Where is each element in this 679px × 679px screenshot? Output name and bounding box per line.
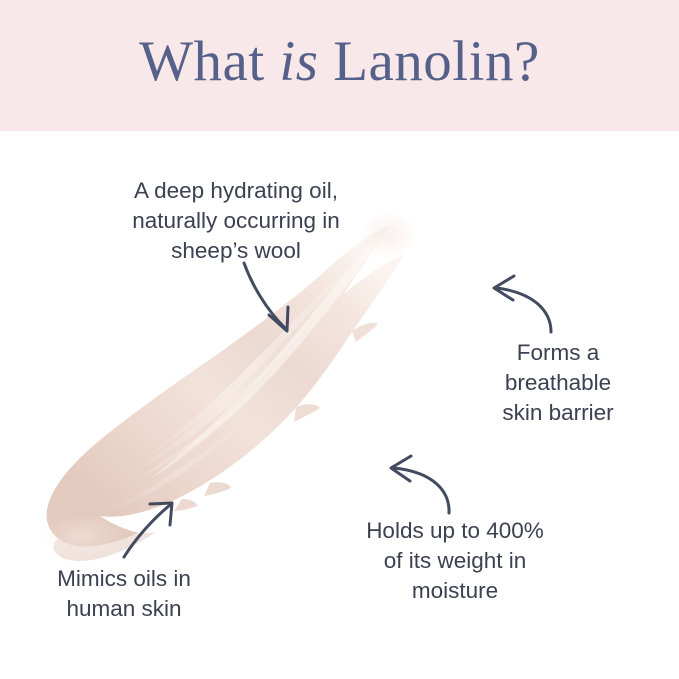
callout-line: A deep hydrating oil, bbox=[80, 176, 392, 206]
lanolin-infographic: What is Lanolin? bbox=[0, 0, 679, 679]
callout-deep-hydrating-oil: A deep hydrating oil, naturally occurrin… bbox=[80, 176, 392, 266]
callout-line: moisture bbox=[320, 576, 590, 606]
page-title-emphasis: is bbox=[279, 30, 318, 93]
page-title: What is Lanolin? bbox=[0, 26, 679, 98]
callout-line: Forms a bbox=[478, 338, 638, 368]
callout-holds-moisture: Holds up to 400% of its weight in moistu… bbox=[320, 516, 590, 606]
callout-line: sheep’s wool bbox=[80, 236, 392, 266]
callout-line: breathable bbox=[478, 368, 638, 398]
page-title-suffix: Lanolin? bbox=[318, 30, 539, 93]
page-title-prefix: What bbox=[139, 30, 279, 93]
callout-breathable-barrier: Forms a breathable skin barrier bbox=[478, 338, 638, 428]
callout-mimics-skin-oils: Mimics oils in human skin bbox=[18, 564, 230, 624]
callout-line: naturally occurring in bbox=[80, 206, 392, 236]
callout-line: Holds up to 400% bbox=[320, 516, 590, 546]
callout-line: of its weight in bbox=[320, 546, 590, 576]
callout-line: Mimics oils in bbox=[18, 564, 230, 594]
callout-line: human skin bbox=[18, 594, 230, 624]
callout-line: skin barrier bbox=[478, 398, 638, 428]
